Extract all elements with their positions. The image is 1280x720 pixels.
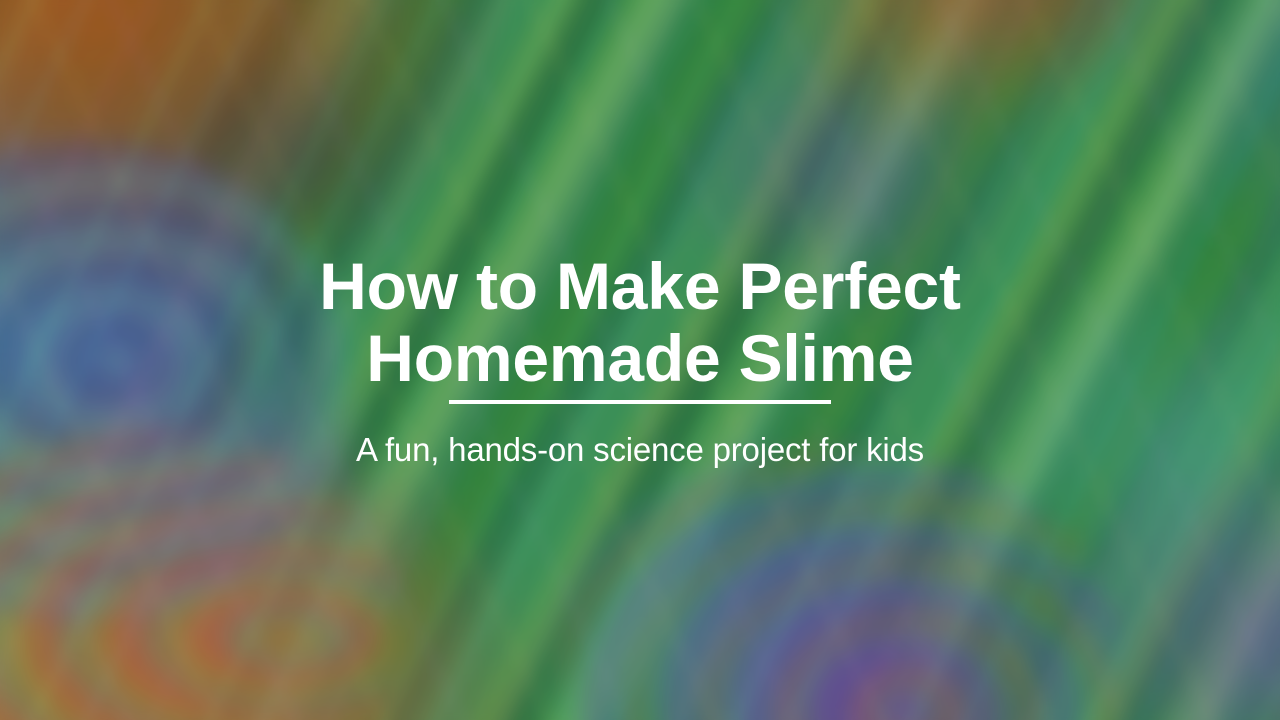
slide-subtitle: A fun, hands-on science project for kids bbox=[356, 430, 924, 470]
slide-content: How to Make Perfect Homemade Slime A fun… bbox=[0, 0, 1280, 720]
slide-title: How to Make Perfect Homemade Slime bbox=[160, 250, 1120, 394]
title-divider bbox=[449, 400, 831, 404]
title-slide: How to Make Perfect Homemade Slime A fun… bbox=[0, 0, 1280, 720]
